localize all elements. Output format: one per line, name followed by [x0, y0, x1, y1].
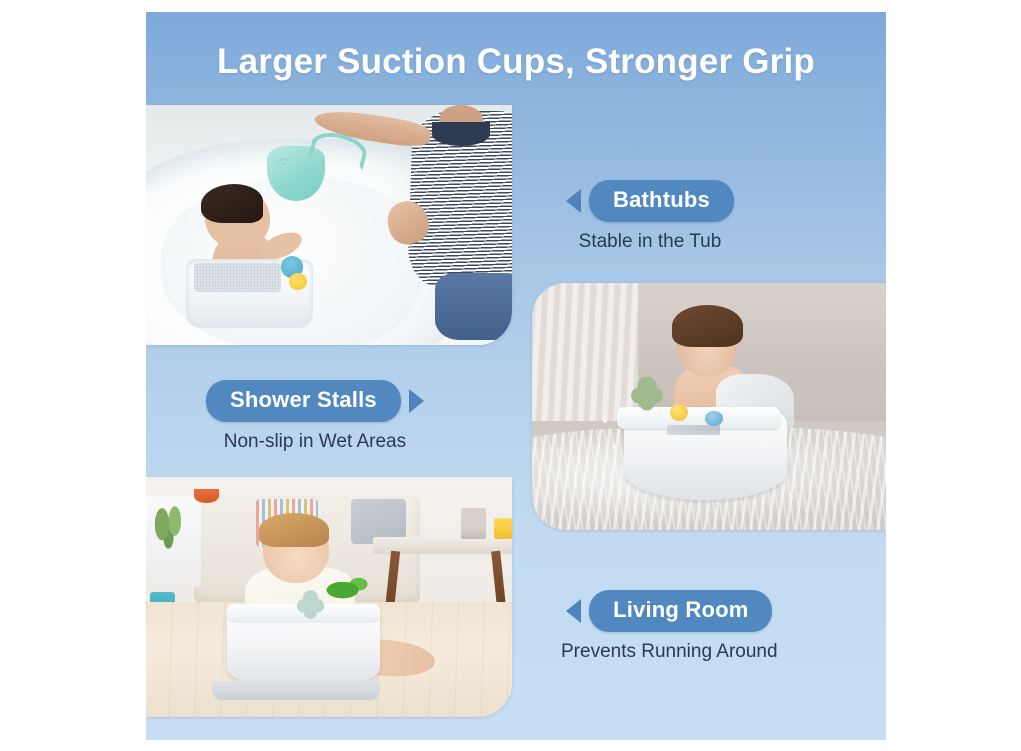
bathtub-photo [146, 105, 512, 345]
living-room-photo [146, 477, 512, 717]
callout-subtitle-living-room: Prevents Running Around [561, 641, 778, 664]
dinosaur-toy-icon [325, 573, 369, 604]
feature-panel: Larger Suction Cups, Stronger Grip [146, 12, 886, 740]
badge-row: Living Room [566, 590, 772, 632]
callout-living-room: Living Room Prevents Running Around [561, 590, 778, 663]
baby-hair [259, 513, 329, 547]
callout-shower-stalls: Shower Stalls Non-slip in Wet Areas [206, 380, 424, 453]
tree-toy-icon [631, 377, 663, 419]
callout-bathtubs: Bathtubs Stable in the Tub [566, 180, 734, 253]
right-arrow-icon [409, 389, 424, 413]
badge-row: Shower Stalls [206, 380, 424, 422]
adult-jeans [435, 273, 512, 340]
badge-row: Bathtubs [566, 180, 734, 222]
bath-seat-base [212, 681, 380, 700]
badge-label-living-room: Living Room [589, 590, 772, 632]
callout-subtitle-bathtubs: Stable in the Tub [579, 231, 722, 254]
potted-plant [150, 503, 190, 556]
yellow-toy [670, 404, 688, 421]
shower-photo [532, 283, 886, 530]
badge-label-shower-stalls: Shower Stalls [206, 380, 401, 422]
tree-toy-icon [296, 590, 325, 624]
page-canvas: Larger Suction Cups, Stronger Grip [0, 0, 1021, 751]
adult-collar [432, 122, 491, 146]
pencil-holder [461, 508, 487, 539]
callout-subtitle-shower-stalls: Non-slip in Wet Areas [224, 431, 406, 454]
left-arrow-icon [566, 189, 581, 213]
bath-seat-mesh [194, 263, 282, 292]
baby-hair [201, 184, 263, 222]
yellow-toy [289, 273, 307, 290]
baby-hair [672, 305, 743, 347]
rinse-cup-holes [274, 158, 303, 170]
left-arrow-icon [566, 599, 581, 623]
yellow-cup [494, 518, 512, 540]
badge-label-bathtubs: Bathtubs [589, 180, 734, 222]
page-title: Larger Suction Cups, Stronger Grip [146, 42, 886, 82]
brand-logo [667, 425, 720, 435]
